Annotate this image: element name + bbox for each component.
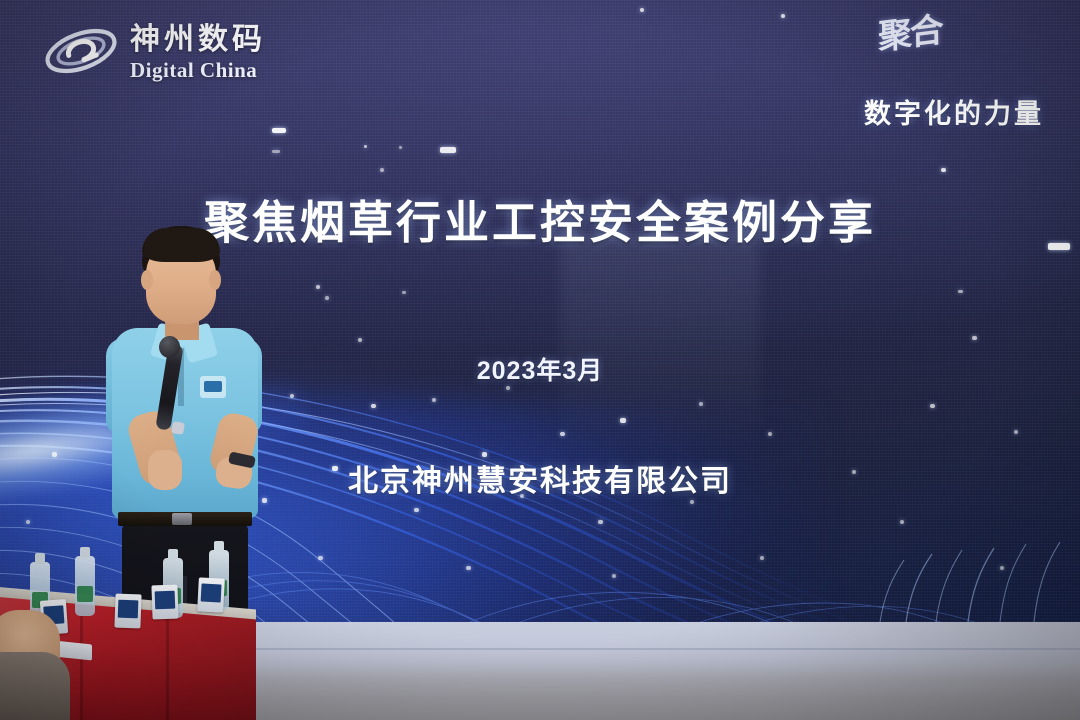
particle bbox=[941, 168, 946, 172]
swirl-galaxy-icon bbox=[42, 20, 120, 82]
speaker-hair-front bbox=[142, 228, 220, 262]
particle bbox=[325, 296, 329, 300]
particle bbox=[364, 145, 367, 148]
brand-wordmark: 神州数码 Digital China bbox=[130, 21, 266, 81]
event-calligraphy: 聚合 bbox=[878, 16, 942, 53]
particle bbox=[1000, 566, 1004, 570]
particle bbox=[612, 574, 616, 578]
particle bbox=[900, 520, 904, 524]
speaker-shirt-badge-icon bbox=[200, 376, 226, 398]
brand-name-en: Digital China bbox=[130, 60, 266, 81]
brand-name-cn: 神州数码 bbox=[130, 25, 266, 55]
particle bbox=[440, 147, 456, 153]
event-subtitle: 数字化的力量 bbox=[864, 92, 1044, 131]
particle bbox=[690, 500, 694, 504]
particle bbox=[930, 404, 935, 408]
particle bbox=[699, 402, 703, 406]
particle bbox=[620, 418, 626, 423]
particle bbox=[760, 556, 764, 560]
particle bbox=[272, 128, 286, 133]
speaker-belt-buckle bbox=[172, 513, 192, 525]
name-card bbox=[151, 585, 178, 620]
particle bbox=[958, 290, 963, 293]
particle bbox=[272, 150, 280, 153]
speaker-hand-left bbox=[148, 450, 182, 490]
foreground-attendee-body bbox=[0, 652, 70, 720]
particle bbox=[432, 398, 436, 402]
table-cloth-fold bbox=[80, 616, 83, 720]
particle bbox=[560, 432, 565, 436]
microphone-tip bbox=[171, 421, 185, 435]
particle bbox=[466, 566, 471, 570]
brand-logo: 神州数码 Digital China bbox=[42, 20, 266, 82]
particle bbox=[290, 394, 294, 398]
particle bbox=[781, 14, 785, 18]
particle bbox=[371, 404, 376, 408]
particle bbox=[316, 285, 320, 289]
event-logo: 聚合 数字化的力量 bbox=[800, 18, 1060, 118]
particle bbox=[640, 8, 644, 12]
particle bbox=[414, 508, 419, 512]
particle bbox=[972, 336, 977, 340]
particle bbox=[598, 520, 603, 524]
speaker-ear-right bbox=[209, 270, 221, 290]
particle bbox=[318, 556, 323, 560]
name-card bbox=[114, 594, 141, 629]
table-cloth-fold bbox=[166, 614, 169, 720]
particle bbox=[402, 291, 406, 294]
particle bbox=[26, 520, 30, 524]
name-card bbox=[197, 577, 225, 612]
stage-photo: 神州数码 Digital China 聚合 数字化的力量 聚焦烟草行业工控安全案… bbox=[0, 0, 1080, 720]
particle bbox=[380, 168, 384, 172]
speaker-ear-left bbox=[141, 270, 153, 290]
particle bbox=[768, 432, 772, 436]
particle bbox=[399, 146, 402, 149]
water-bottle bbox=[75, 556, 95, 616]
particle bbox=[1014, 430, 1018, 434]
particle bbox=[358, 338, 362, 342]
